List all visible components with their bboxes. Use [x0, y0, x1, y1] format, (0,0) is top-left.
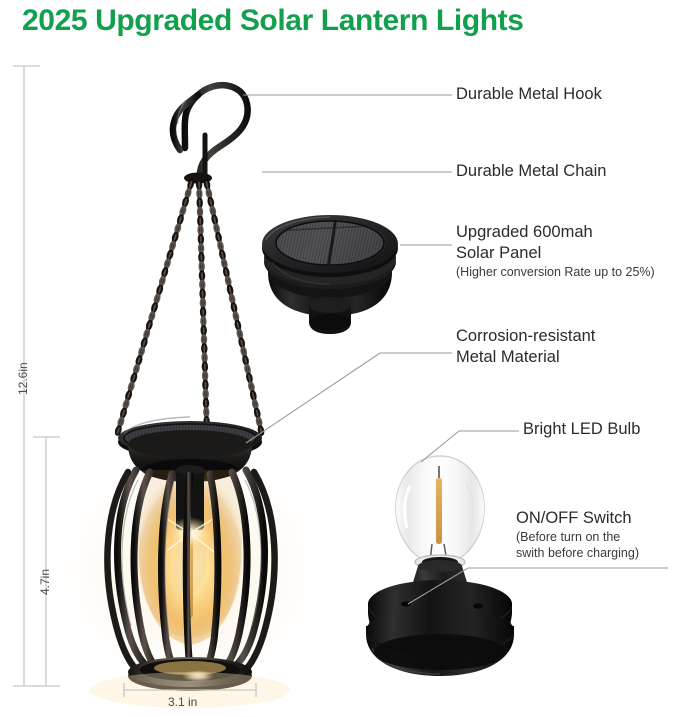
- solar-panel-disc-group: [262, 215, 398, 334]
- chain-links: [115, 180, 264, 436]
- s-hook-group: [173, 85, 248, 183]
- callout-subtext: (Higher conversion Rate up to 25%): [456, 264, 655, 280]
- callout-label: Durable Metal Hook: [456, 85, 602, 103]
- callout-label: Upgraded 600mah: [456, 223, 593, 241]
- dimension-height-total: 12.6in: [16, 362, 30, 395]
- callout-label: ON/OFF Switch: [516, 509, 632, 527]
- callout-corrosion-resistant-metal: Corrosion-resistant Metal Material: [456, 326, 595, 368]
- product-infographic: 2025 Upgraded Solar Lantern Lights: [0, 0, 679, 717]
- callout-subtext: (Before turn on the: [516, 529, 639, 545]
- dimension-height-body: 4.7in: [38, 569, 52, 595]
- callout-durable-metal-chain: Durable Metal Chain: [456, 161, 606, 182]
- callout-durable-metal-hook: Durable Metal Hook: [456, 84, 602, 105]
- callout-solar-panel: Upgraded 600mah Solar Panel (Higher conv…: [456, 222, 655, 280]
- onoff-switch-hole: [401, 601, 411, 606]
- callout-label-line2: Solar Panel: [456, 243, 655, 264]
- led-bulb-group: [396, 456, 484, 569]
- callout-label: Durable Metal Chain: [456, 162, 606, 180]
- metal-chain-group: [117, 180, 262, 435]
- callout-subtext-line2: swith before charging): [516, 545, 639, 561]
- bulb-base-group: [366, 560, 514, 676]
- callout-onoff-switch: ON/OFF Switch (Before turn on the swith …: [516, 508, 639, 561]
- callout-bright-led-bulb: Bright LED Bulb: [523, 419, 640, 440]
- callout-label: Corrosion-resistant: [456, 327, 595, 345]
- callout-label-line2: Metal Material: [456, 347, 595, 368]
- dimension-width-body: 3.1 in: [168, 695, 197, 709]
- solar-lantern-group: [40, 417, 340, 708]
- callout-label: Bright LED Bulb: [523, 420, 640, 438]
